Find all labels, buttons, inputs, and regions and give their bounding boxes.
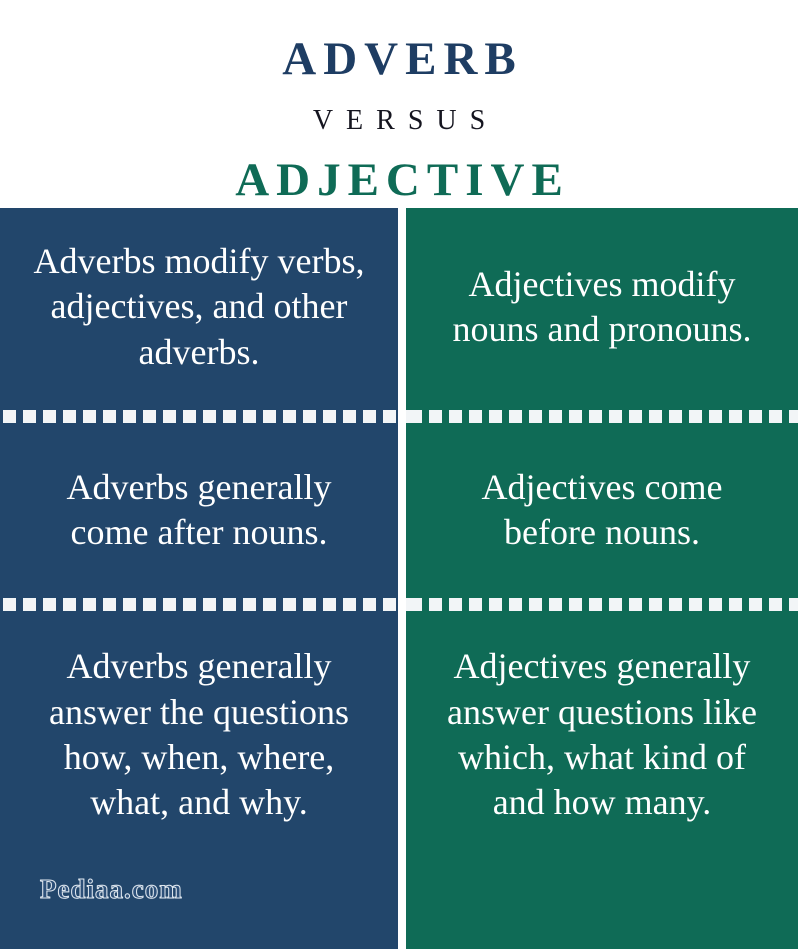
row-divider [0, 406, 398, 426]
cell-adjective-row-2: Adjectives come before nouns. [406, 426, 798, 594]
cell-text: Adverbs generally come after nouns. [26, 465, 372, 556]
watermark-pediaa: Pediaa.com [40, 874, 183, 905]
row-divider [406, 406, 798, 426]
cell-adverb-row-2: Adverbs generally come after nouns. [0, 426, 398, 594]
page-title-adjective: ADJECTIVE [228, 157, 570, 204]
cell-text: Adverbs generally answer the questions h… [26, 644, 372, 825]
cell-adjective-row-1: Adjectives modify nouns and pronouns. [406, 208, 798, 406]
cell-adjective-row-3: Adjectives generally answer questions li… [406, 614, 798, 949]
cell-text: Adjectives come before nouns. [432, 465, 772, 556]
cell-adverb-row-1: Adverbs modify verbs, adjectives, and ot… [0, 208, 398, 406]
page-title-adverb: ADVERB [275, 36, 522, 83]
title-versus-separator: VERSUS [300, 107, 498, 135]
infographic-adverb-vs-adjective: ADVERB VERSUS ADJECTIVE Adverbs modify v… [0, 0, 798, 949]
row-divider [0, 594, 398, 614]
cell-text: Adjectives modify nouns and pronouns. [432, 262, 772, 353]
row-divider [406, 594, 798, 614]
column-adjective: Adjectives modify nouns and pronouns. Ad… [406, 208, 798, 949]
cell-text: Adjectives generally answer questions li… [432, 644, 772, 825]
column-adverb: Adverbs modify verbs, adjectives, and ot… [0, 208, 398, 949]
column-gutter [398, 208, 406, 949]
header: ADVERB VERSUS ADJECTIVE [0, 0, 798, 208]
cell-text: Adverbs modify verbs, adjectives, and ot… [26, 239, 372, 375]
comparison-table: Adverbs modify verbs, adjectives, and ot… [0, 208, 798, 949]
